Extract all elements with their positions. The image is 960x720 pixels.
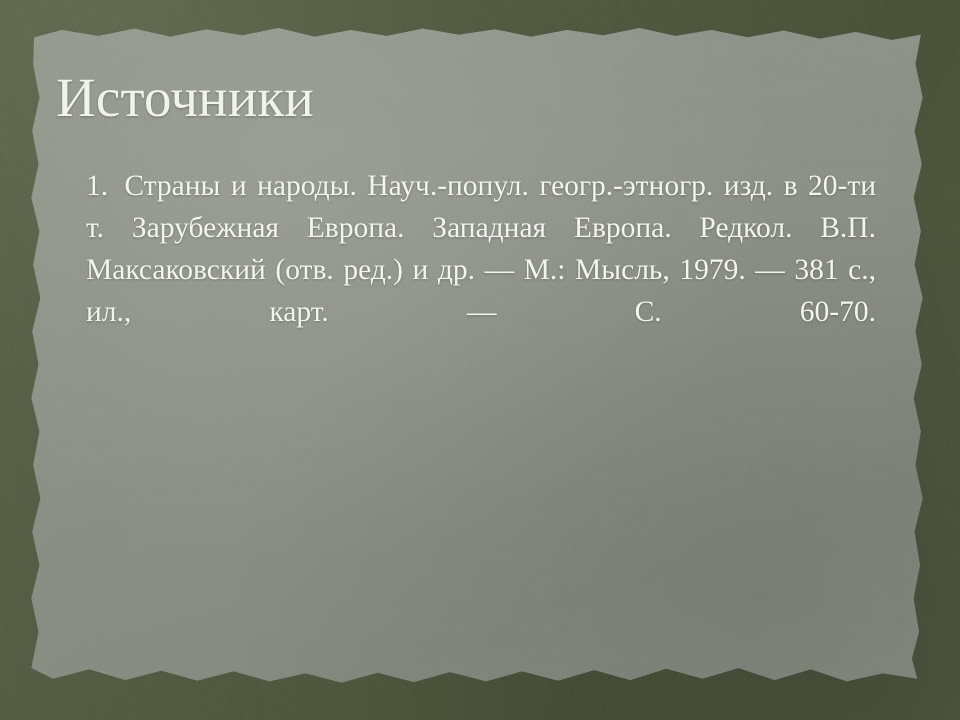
list-item: 1.Страны и народы. Науч.-попул. геогр.-э… bbox=[86, 165, 876, 375]
slide-content: Источники 1.Страны и народы. Науч.-попул… bbox=[0, 0, 960, 720]
page-title: Источники bbox=[56, 69, 314, 126]
reference-number: 1. bbox=[86, 170, 108, 202]
references-list: 1.Страны и народы. Науч.-попул. геогр.-э… bbox=[86, 165, 876, 375]
presentation-slide: Источники 1.Страны и народы. Науч.-попул… bbox=[0, 0, 960, 720]
reference-text: Страны и народы. Науч.-попул. геогр.-этн… bbox=[86, 170, 876, 328]
